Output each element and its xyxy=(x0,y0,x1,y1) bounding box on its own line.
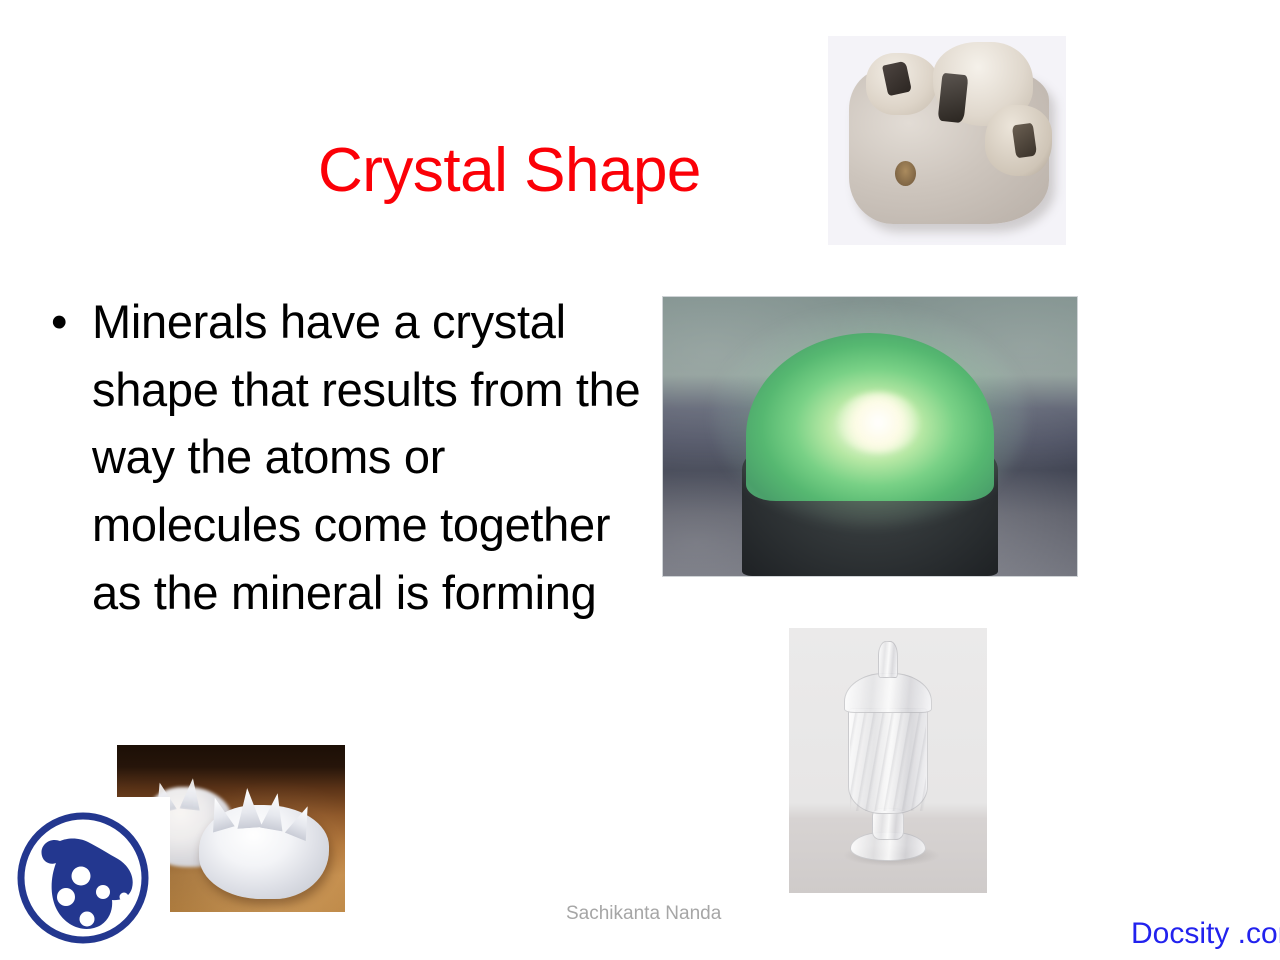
slide-canvas: Crystal Shape • Minerals have a crystal … xyxy=(0,0,1280,960)
bullet-marker-icon: • xyxy=(51,288,67,356)
list-item: • Minerals have a crystal shape that res… xyxy=(40,288,650,626)
vase-facet-texture xyxy=(850,710,925,811)
page-title: Crystal Shape xyxy=(318,138,701,203)
vase-finial xyxy=(878,641,898,678)
mineral-dark-inclusion-c xyxy=(1011,122,1037,158)
vase-lid xyxy=(844,673,931,713)
author-credit: Sachikanta Nanda xyxy=(566,903,721,925)
dome-light-core xyxy=(837,392,920,453)
body-bullet-list: • Minerals have a crystal shape that res… xyxy=(40,288,650,626)
docsity-watermark[interactable]: Docsity .com xyxy=(1131,917,1280,951)
green-glowing-dome-photo xyxy=(662,296,1078,577)
docsity-logo[interactable] xyxy=(6,797,170,957)
crystal-vase-photo xyxy=(789,628,987,893)
docsity-logo-icon xyxy=(6,797,170,957)
mineral-cluster-photo xyxy=(828,36,1066,245)
bullet-text: Minerals have a crystal shape that resul… xyxy=(92,295,640,619)
mineral-dark-inclusion-b xyxy=(937,72,968,123)
